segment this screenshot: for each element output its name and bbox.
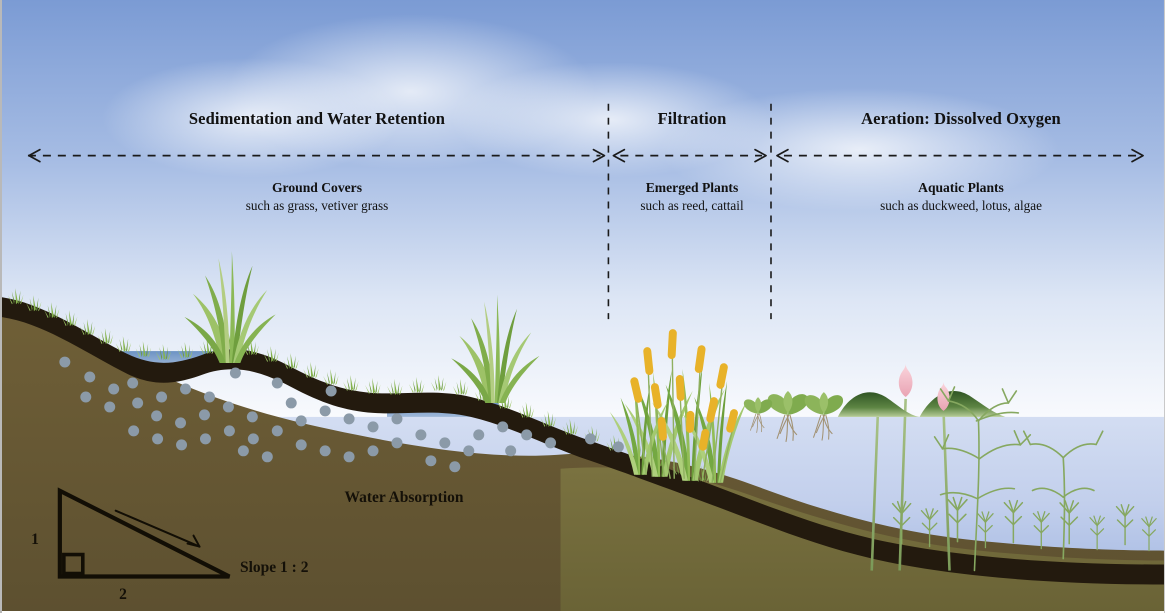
zone-plant-sub-sedimentation: such as grass, vetiver grass	[167, 198, 467, 214]
zone-plant-title-filtration: Emerged Plants	[607, 180, 777, 197]
triangle-run-label: 2	[112, 586, 134, 605]
diagram-canvas: Sedimentation and Water Retention Ground…	[0, 0, 1165, 613]
zone-plant-title-sedimentation: Ground Covers	[167, 180, 467, 197]
zone-title-aeration: Aeration: Dissolved Oxygen	[811, 109, 1111, 129]
wetland-cross-section-illustration	[2, 0, 1164, 611]
zone-plant-sub-filtration: such as reed, cattail	[607, 198, 777, 214]
slope-ratio-label: Slope 1 : 2	[240, 559, 360, 578]
water-absorption-label: Water Absorption	[304, 489, 504, 508]
zone-plant-title-aeration: Aquatic Plants	[811, 180, 1111, 197]
zone-title-filtration: Filtration	[617, 109, 767, 129]
zone-title-sedimentation: Sedimentation and Water Retention	[117, 109, 517, 129]
zone-plant-sub-aeration: such as duckweed, lotus, algae	[811, 198, 1111, 214]
triangle-rise-label: 1	[24, 531, 46, 550]
